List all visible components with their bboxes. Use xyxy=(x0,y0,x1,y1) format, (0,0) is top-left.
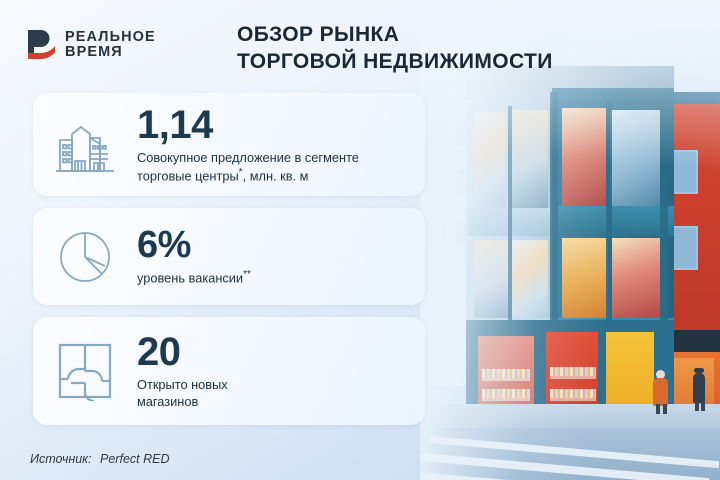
stat-card-body: 20 Открыто новых магазинов xyxy=(137,332,425,411)
stat-description-line1: Открыто новых xyxy=(137,377,228,392)
stat-card-body: 6% уровень вакансии** xyxy=(137,226,425,287)
brand-logo-text: РЕАЛЬНОЕ ВРЕМЯ xyxy=(65,30,156,60)
stat-card-supply: 1,14 Совокупное предложение в сегменте т… xyxy=(33,93,425,196)
stat-value: 20 xyxy=(137,332,411,372)
source-line: Источник: Perfect RED xyxy=(30,452,169,466)
page-title: ОБЗОР РЫНКА ТОРГОВОЙ НЕДВИЖИМОСТИ xyxy=(237,22,553,76)
brand-logo-line2: ВРЕМЯ xyxy=(65,45,156,60)
page-title-line1: ОБЗОР РЫНКА xyxy=(237,22,553,49)
stat-description-tail: , млн. кв. м xyxy=(243,168,309,183)
stat-card-vacancy: 6% уровень вакансии** xyxy=(33,208,425,305)
stat-description-line1: уровень вакансии xyxy=(137,271,243,286)
stat-description-line2: торговые центры xyxy=(137,168,239,183)
brand-logo-line1: РЕАЛЬНОЕ xyxy=(65,30,156,45)
pie-chart-icon xyxy=(33,228,137,286)
floor-plan-icon xyxy=(33,341,137,401)
stat-card-body: 1,14 Совокупное предложение в сегменте т… xyxy=(137,105,425,185)
realnoe-vremya-r-mark-icon xyxy=(26,28,56,62)
stat-description-line2: магазинов xyxy=(137,394,198,409)
stat-description: Совокупное предложение в сегменте торгов… xyxy=(137,149,411,185)
stat-card-new-stores: 20 Открыто новых магазинов xyxy=(33,317,425,425)
city-buildings-icon xyxy=(33,116,137,174)
stat-footnote: ** xyxy=(243,269,251,280)
source-label: Источник: xyxy=(30,452,92,466)
infographic-poster: РЕАЛЬНОЕ ВРЕМЯ ОБЗОР РЫНКА ТОРГОВОЙ НЕДВ… xyxy=(0,0,720,480)
stat-value: 6% xyxy=(137,226,411,264)
stat-description: уровень вакансии** xyxy=(137,268,411,287)
stat-value: 1,14 xyxy=(137,105,411,145)
stat-description: Открыто новых магазинов xyxy=(137,376,411,411)
page-title-line2: ТОРГОВОЙ НЕДВИЖИМОСТИ xyxy=(237,49,553,76)
source-value: Perfect RED xyxy=(100,452,169,466)
stat-description-line1: Совокупное предложение в сегменте xyxy=(137,150,359,165)
brand-logo[interactable]: РЕАЛЬНОЕ ВРЕМЯ xyxy=(26,28,156,62)
